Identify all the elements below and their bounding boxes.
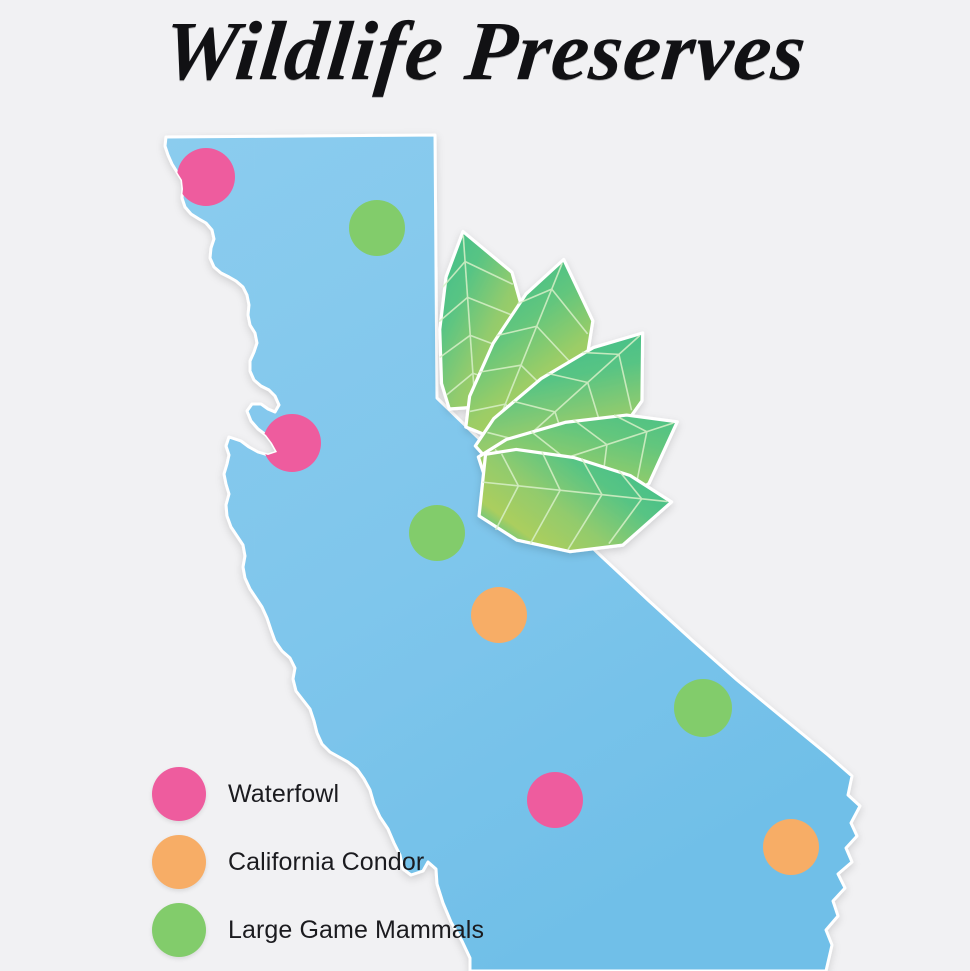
preserve-marker[interactable] — [177, 148, 235, 206]
wildlife-preserves-poster: Wildlife Preserves Waterfowl California … — [0, 0, 970, 971]
legend-item-large-game-mammals[interactable]: Large Game Mammals — [152, 896, 552, 964]
preserve-marker[interactable] — [349, 200, 405, 256]
preserve-marker[interactable] — [674, 679, 732, 737]
legend-item-label: Large Game Mammals — [228, 916, 484, 944]
legend-item-label: Waterfowl — [228, 780, 339, 808]
preserve-marker[interactable] — [409, 505, 465, 561]
green-circle-marker-icon — [152, 903, 206, 957]
pink-circle-marker-icon — [152, 767, 206, 821]
preserve-marker[interactable] — [763, 819, 819, 875]
legend-item-california-condor[interactable]: California Condor — [152, 828, 552, 896]
preserve-marker[interactable] — [471, 587, 527, 643]
legend: Waterfowl California Condor Large Game M… — [152, 760, 552, 964]
legend-item-waterfowl[interactable]: Waterfowl — [152, 760, 552, 828]
legend-item-label: California Condor — [228, 848, 424, 876]
orange-circle-marker-icon — [152, 835, 206, 889]
